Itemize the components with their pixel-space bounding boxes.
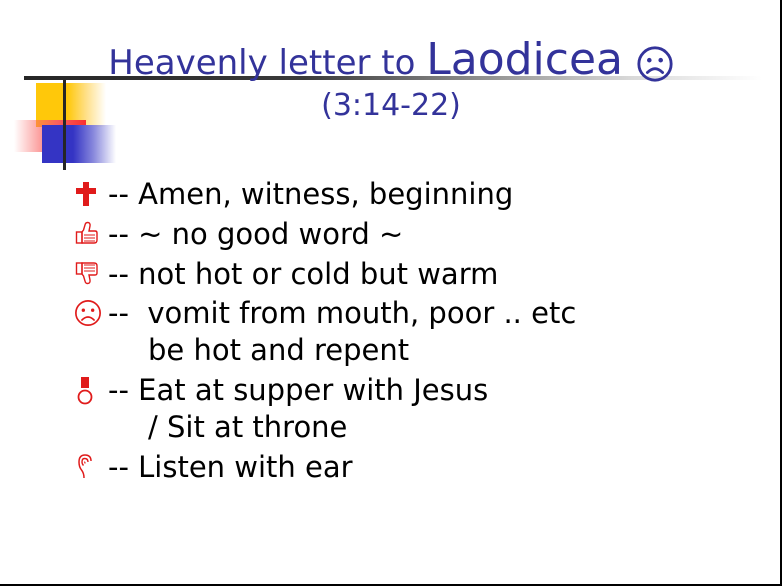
list-item-text: -- Eat at supper with Jesus	[108, 372, 488, 409]
list-item-continuation: / Sit at throne	[108, 409, 488, 446]
presentation-slide: Heavenly letter to Laodicea (3:14-22) --…	[0, 0, 782, 586]
thumbs-down-icon	[74, 256, 108, 286]
list-item-text: -- vomit from mouth, poor .. etc	[108, 295, 576, 332]
frowning-face-icon	[74, 295, 108, 327]
bullet-list: -- Amen, witness, beginning -- ~ no good…	[74, 176, 764, 489]
ear-icon	[74, 449, 108, 481]
list-item-text: -- ~ no good word ~	[108, 216, 403, 253]
list-item: -- not hot or cold but warm	[74, 256, 764, 293]
list-item: -- Amen, witness, beginning	[74, 176, 764, 213]
list-item: -- vomit from mouth, poor .. etc be hot …	[74, 295, 764, 369]
list-item: -- Listen with ear	[74, 449, 764, 486]
list-item: -- ~ no good word ~	[74, 216, 764, 253]
list-item-text: -- not hot or cold but warm	[108, 256, 498, 293]
cross-dagger-icon	[74, 176, 108, 208]
page-title: Heavenly letter to Laodicea	[0, 38, 782, 83]
list-item-text: -- Listen with ear	[108, 449, 353, 486]
logo-blue-block	[42, 125, 116, 163]
frowning-face-icon	[623, 40, 674, 86]
title-lead-text: Heavenly letter to	[108, 43, 426, 83]
page-subtitle: (3:14-22)	[0, 91, 782, 121]
list-item-text: -- Amen, witness, beginning	[108, 176, 513, 213]
title-emphasis-text: Laodicea	[426, 34, 623, 85]
thumbs-up-icon	[74, 216, 108, 246]
title-block: Heavenly letter to Laodicea (3:14-22)	[0, 38, 782, 121]
list-item-continuation: be hot and repent	[108, 332, 576, 369]
medal-icon	[74, 372, 108, 406]
list-item: -- Eat at supper with Jesus / Sit at thr…	[74, 372, 764, 446]
